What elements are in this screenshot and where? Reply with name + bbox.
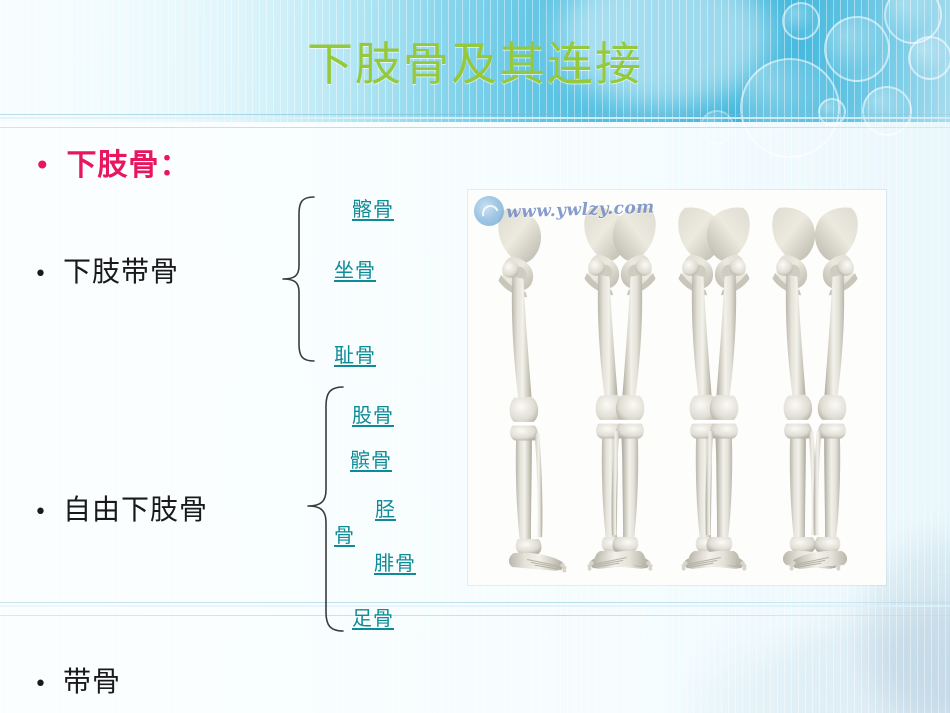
bone-label-femur: 股骨 [352,403,394,427]
bullet-label: 下肢带骨 [63,250,179,290]
bullet-label: 自由下肢骨 [63,488,208,528]
bone-label-ilium: 髂骨 [352,197,394,221]
shell-swirl-icon [474,196,504,226]
divider-line [0,602,950,603]
lower-limb-skeleton-photo: www.ywlzy.com [468,190,886,585]
bullet-marker-icon: • [34,264,47,286]
bone-label-fibula: 腓骨 [374,551,416,575]
brace-pelvic-girdle [278,194,318,364]
bullet-label: 带骨 [63,660,121,700]
bullet-label: 下肢骨： [67,140,191,184]
bone-label-ischium: 坐骨 [334,258,376,282]
bone-label-tibia-upper: 胫 [375,497,396,521]
divider-line [0,615,950,616]
bullet-item-pelvic-girdle: • 下肢带骨 [34,250,179,290]
divider-line [0,605,950,607]
bullet-item-lower-limb-bones: • 下肢骨： [34,140,191,184]
bone-label-patella: 髌骨 [350,448,392,472]
divider-line [0,114,950,115]
bone-label-tibia-lower: 骨 [334,523,355,547]
bone-label-pubis: 耻骨 [334,343,376,367]
bullet-marker-icon: • [34,152,51,180]
page-title: 下肢骨及其连接 [0,36,950,92]
bone-label-foot: 足骨 [352,606,394,630]
bullet-item-girdle-bone: • 带骨 [34,660,121,700]
divider-line [0,117,950,119]
bullet-item-free-lower-limb: • 自由下肢骨 [34,488,208,528]
bullet-marker-icon: • [34,674,47,696]
brace-free-lower-limb [303,384,347,634]
bullet-marker-icon: • [34,502,47,524]
divider-line [0,127,950,128]
skeleton-illustration [468,190,886,585]
presentation-slide: 下肢骨及其连接 • 下肢骨： • 下肢带骨 • 自由下肢骨 • 带骨 髂骨 坐骨… [0,0,950,713]
